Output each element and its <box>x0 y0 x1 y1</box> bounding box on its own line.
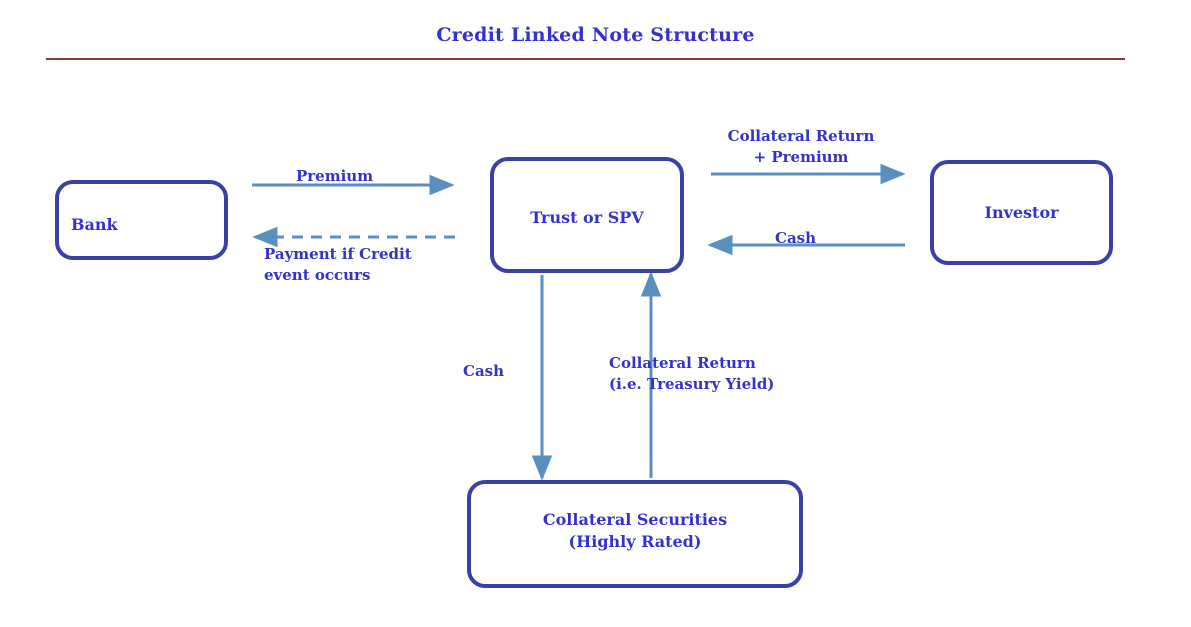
node-trust-or-spv-label: Trust or SPV <box>494 207 680 229</box>
node-trust-or-spv[interactable]: Trust or SPV <box>490 157 684 273</box>
page-title: Credit Linked Note Structure <box>0 24 1191 46</box>
node-investor[interactable]: Investor <box>930 160 1113 265</box>
edge-label-cash-down: Cash <box>463 361 504 382</box>
node-collateral-securities-label: Collateral Securities (Highly Rated) <box>471 509 799 552</box>
edge-label-cash-investor: Cash <box>775 228 816 249</box>
node-collateral-securities[interactable]: Collateral Securities (Highly Rated) <box>467 480 803 588</box>
diagram-canvas: Credit Linked Note Structure Ba <box>0 0 1191 627</box>
node-bank[interactable]: Bank <box>55 180 228 260</box>
edge-label-credit-event: Payment if Credit event occurs <box>264 244 412 285</box>
title-divider <box>46 58 1125 60</box>
node-investor-label: Investor <box>934 202 1109 224</box>
edge-label-collateral-return-premium: Collateral Return + Premium <box>711 126 891 167</box>
node-bank-label: Bank <box>59 214 224 236</box>
edge-label-premium: Premium <box>296 166 373 187</box>
edge-label-collateral-return: Collateral Return (i.e. Treasury Yield) <box>609 353 774 394</box>
